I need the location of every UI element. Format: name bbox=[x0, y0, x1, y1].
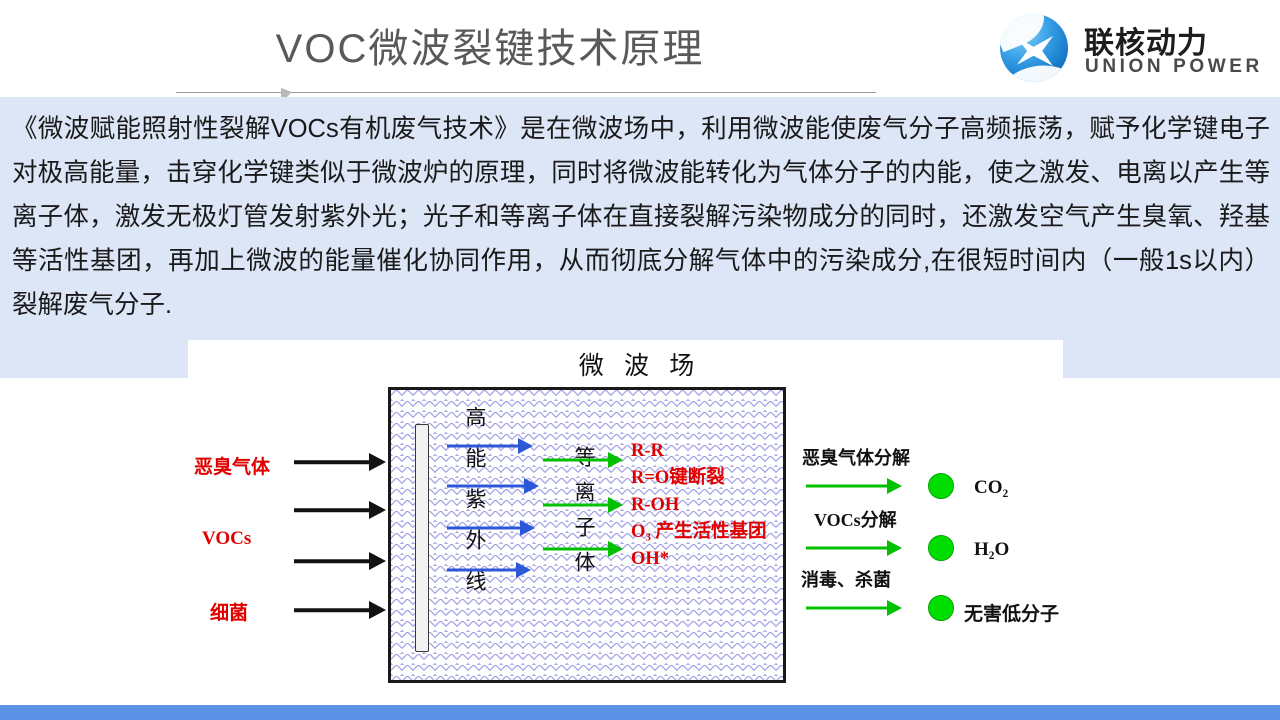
uv-lamp-tube bbox=[415, 424, 429, 652]
microwave-chamber: 高能紫外线 等离子体 R-R R=O键断裂 R-OH O₃ bbox=[388, 387, 786, 683]
intro-section: 《微波赋能照射性裂解VOCs有机废气技术》是在微波场中，利用微波能使废气分子高频… bbox=[0, 97, 1280, 378]
outlet-label-sterilize: 消毒、杀菌 bbox=[801, 566, 891, 592]
plasma-label-vertical: 等离子体 bbox=[577, 446, 603, 586]
outlet-dot-3 bbox=[928, 595, 954, 621]
product-item-2: R-OH bbox=[631, 492, 767, 519]
outlet-label-odor: 恶臭气体分解 bbox=[802, 444, 910, 470]
page-header: VOC微波裂键技术原理 联核动力 UNION POWER bbox=[0, 0, 1280, 96]
inlet-label-bacteria: 细菌 bbox=[210, 598, 248, 625]
logo-company-name-en: UNION POWER bbox=[1085, 56, 1263, 78]
uv-label-vertical: 高能紫外线 bbox=[469, 406, 495, 611]
product-item-3: O₃ 产生活性基团 bbox=[631, 519, 767, 546]
outlet-dot-2 bbox=[928, 535, 954, 561]
outlet-product-h2o: H₂O bbox=[974, 539, 1009, 561]
inlet-label-vocs: VOCs bbox=[202, 528, 251, 550]
intro-paragraph: 《微波赋能照射性裂解VOCs有机废气技术》是在微波场中，利用微波能使废气分子高频… bbox=[12, 107, 1270, 327]
footer-accent-bar bbox=[0, 705, 1280, 720]
inlet-label-odor: 恶臭气体 bbox=[194, 452, 270, 479]
product-item-0: R-R bbox=[631, 438, 767, 465]
page-title: VOC微波裂键技术原理 bbox=[0, 16, 980, 74]
product-item-4: OH* bbox=[631, 546, 767, 573]
outlet-product-harmless: 无害低分子 bbox=[964, 599, 1059, 626]
brand-logo: 联核动力 UNION POWER bbox=[1000, 12, 1268, 84]
process-diagram: 微 波 场 恶臭气体 VOCs 细菌 高能紫外线 等离子体 bbox=[188, 340, 1063, 707]
outlet-label-vocs: VOCs分解 bbox=[814, 506, 897, 532]
product-item-1: R=O键断裂 bbox=[631, 465, 767, 492]
outlet-product-co2: CO₂ bbox=[974, 477, 1008, 499]
microwave-field-title: 微 波 场 bbox=[540, 346, 740, 382]
product-list: R-R R=O键断裂 R-OH O₃ 产生活性基团 OH* bbox=[631, 438, 767, 573]
union-power-globe-icon bbox=[1000, 14, 1068, 82]
logo-swoosh-bottom bbox=[1000, 61, 1068, 82]
outlet-dot-1 bbox=[928, 473, 954, 499]
